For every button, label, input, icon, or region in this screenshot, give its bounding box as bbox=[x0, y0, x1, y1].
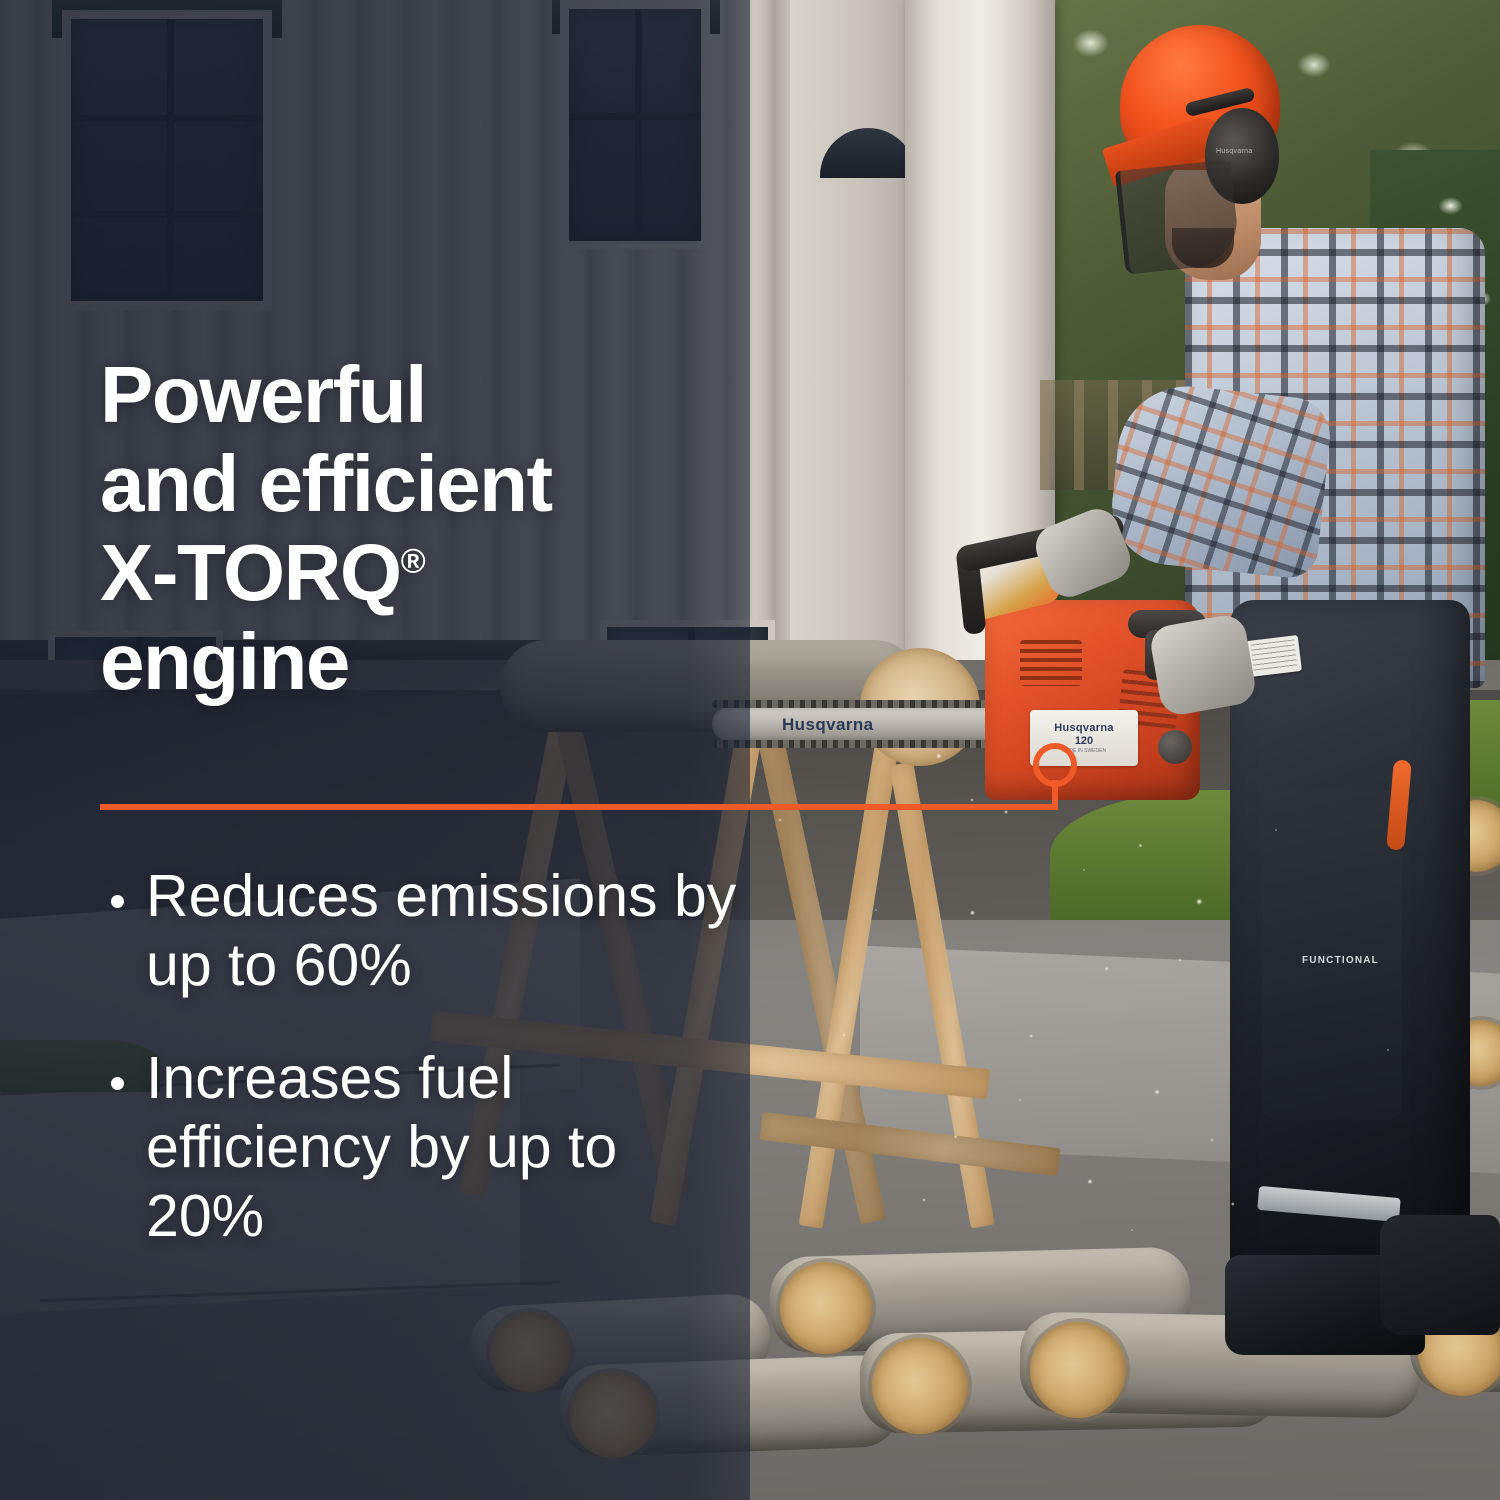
headline-line-3: X-TORQ bbox=[100, 528, 401, 617]
headline-line-2: and efficient bbox=[100, 439, 552, 528]
registered-trademark-symbol: ® bbox=[401, 542, 426, 580]
accent-divider-line bbox=[100, 804, 1058, 810]
text-overlay: Powerful and efficient X-TORQ® engine Re… bbox=[0, 0, 1500, 1500]
callout-ring-marker bbox=[1033, 743, 1077, 787]
list-item: Increases fuel efficiency by up to 20% bbox=[100, 1044, 740, 1251]
headline: Powerful and efficient X-TORQ® engine bbox=[100, 350, 740, 707]
promo-banner: FUNCTIONAL Husqvarna Husqvarna Husqvarna… bbox=[0, 0, 1500, 1500]
benefit-list: Reduces emissions by up to 60% Increases… bbox=[100, 862, 740, 1295]
headline-line-1: Powerful bbox=[100, 350, 426, 439]
list-item: Reduces emissions by up to 60% bbox=[100, 862, 740, 1000]
headline-line-4: engine bbox=[100, 617, 349, 706]
